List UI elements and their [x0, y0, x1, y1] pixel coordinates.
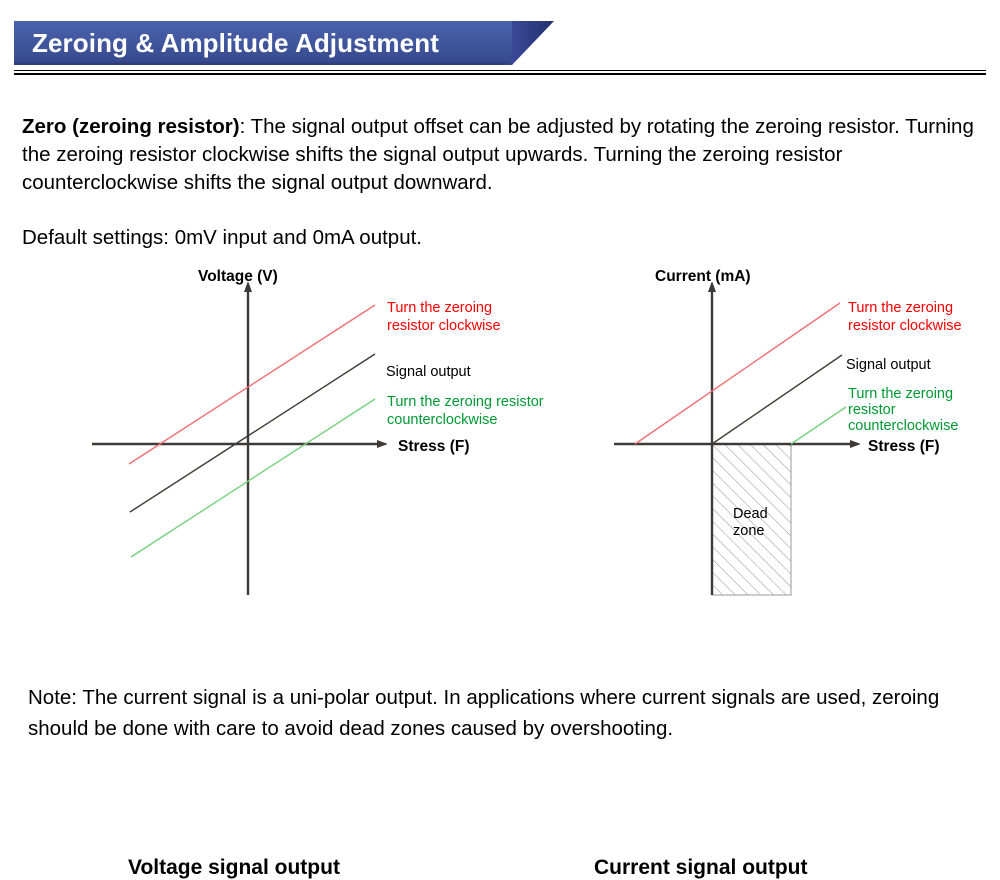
- diagrams-svg: Voltage (V) Stress (F) Turn the zeroing …: [0, 248, 1000, 648]
- slide-header-banner: Zeroing & Amplitude Adjustment: [14, 21, 554, 65]
- voltage-chart: Voltage (V) Stress (F) Turn the zeroing …: [92, 268, 544, 595]
- voltage-line-signal: [130, 354, 375, 512]
- voltage-x-axis-label: Stress (F): [398, 438, 470, 455]
- current-x-axis-label: Stress (F): [868, 438, 940, 455]
- dead-zone-label-line1: Dead: [733, 506, 768, 522]
- voltage-line-clockwise: [129, 305, 375, 464]
- intro-lead: Zero (zeroing resistor): [22, 115, 240, 138]
- dead-zone-label-line2: zone: [733, 523, 764, 539]
- current-annot-counter-line1: Turn the zeroing: [848, 386, 953, 402]
- voltage-annot-counter-line2: counterclockwise: [387, 412, 497, 428]
- current-line-clockwise: [635, 303, 840, 444]
- figures-container: Voltage (V) Stress (F) Turn the zeroing …: [0, 248, 1000, 648]
- voltage-annot-counter-line1: Turn the zeroing resistor: [387, 394, 544, 410]
- current-line-counterclockwise: [791, 407, 846, 444]
- header-divider-top: [14, 70, 986, 71]
- current-figure-caption: Current signal output: [594, 856, 808, 880]
- note-paragraph: Note: The current signal is a uni-polar …: [28, 682, 976, 744]
- voltage-annot-clockwise-line1: Turn the zeroing: [387, 300, 492, 316]
- current-annot-counter-line3: counterclockwise: [848, 418, 958, 434]
- voltage-y-axis-label: Voltage (V): [198, 268, 278, 285]
- current-annot-clockwise-line1: Turn the zeroing: [848, 300, 953, 316]
- current-chart: Dead zone Current (mA) Stress (F) Turn t…: [614, 268, 962, 595]
- page-title: Zeroing & Amplitude Adjustment: [32, 21, 439, 65]
- voltage-line-counterclockwise: [131, 399, 375, 557]
- voltage-figure-caption: Voltage signal output: [128, 856, 340, 880]
- current-annot-signal: Signal output: [846, 357, 931, 373]
- voltage-annot-signal: Signal output: [386, 364, 471, 380]
- intro-paragraph: Zero (zeroing resistor): The signal outp…: [22, 113, 974, 197]
- current-annot-clockwise-line2: resistor clockwise: [848, 318, 962, 334]
- header-divider-bottom: [14, 73, 986, 75]
- current-annot-counter-line2: resistor: [848, 402, 896, 418]
- current-y-axis-label: Current (mA): [655, 268, 751, 285]
- current-line-signal: [712, 355, 842, 444]
- voltage-annot-clockwise-line2: resistor clockwise: [387, 318, 501, 334]
